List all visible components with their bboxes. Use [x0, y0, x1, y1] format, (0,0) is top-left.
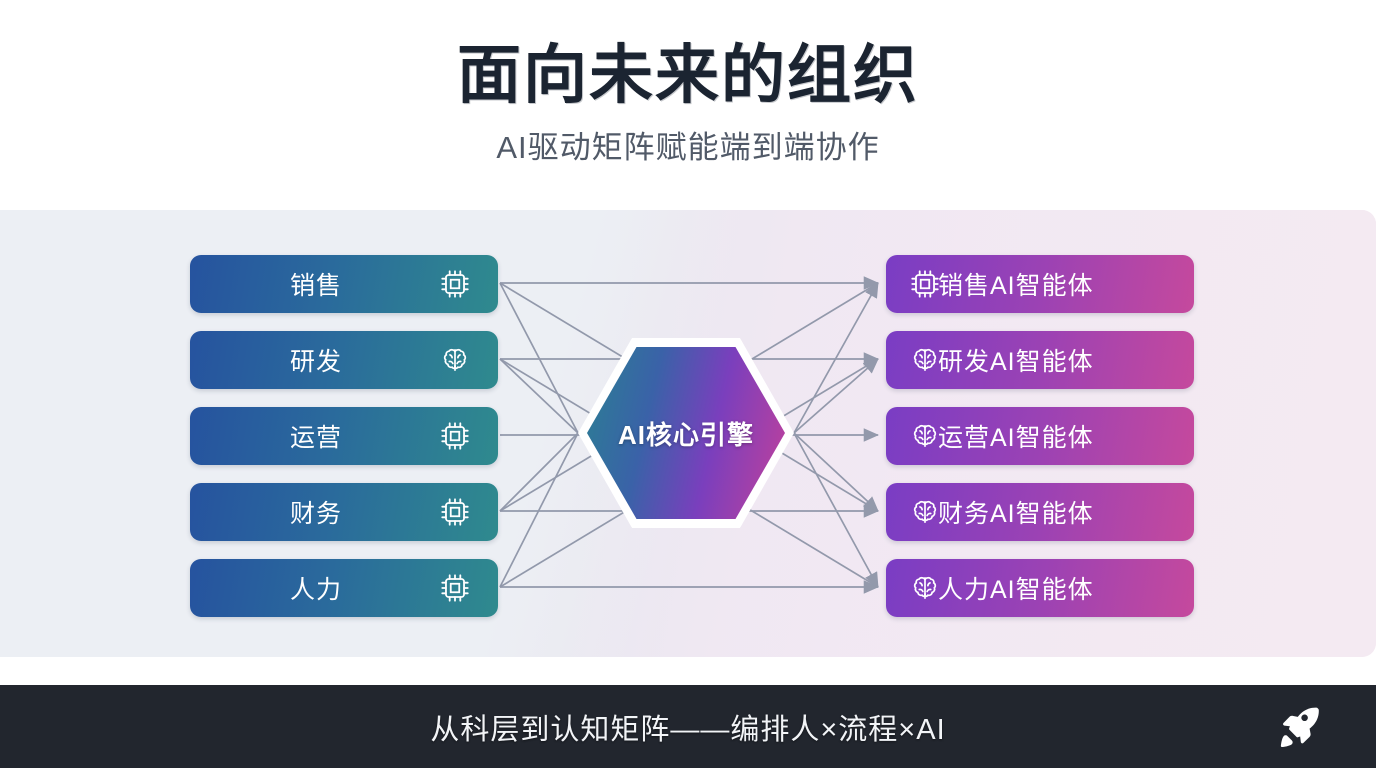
chip-icon	[438, 267, 472, 301]
connector-out-1	[794, 283, 878, 433]
brain-icon	[908, 571, 942, 605]
connector-in-1	[500, 283, 578, 433]
dept-node-label: 运营	[290, 418, 342, 454]
matrix-diagram: 销售 研发	[0, 210, 1376, 657]
agent-node-0[interactable]: 销售AI智能体	[886, 255, 1194, 313]
dept-node-3[interactable]: 财务	[190, 483, 498, 541]
connector-out-4	[794, 433, 878, 511]
brain-icon	[908, 343, 942, 377]
dept-node-1[interactable]: 研发	[190, 331, 498, 389]
ai-core-engine-node[interactable]: AI核心引擎	[578, 338, 794, 528]
dept-node-0[interactable]: 销售	[190, 255, 498, 313]
dept-node-label: 人力	[290, 570, 342, 606]
agent-node-label: 研发AI智能体	[938, 342, 1094, 378]
brain-icon	[908, 495, 942, 529]
chip-icon	[438, 495, 472, 529]
footer-tagline: 从科层到认知矩阵——编排人×流程×AI	[430, 706, 945, 748]
brain-icon	[438, 343, 472, 377]
slide-header: 面向未来的组织 AI驱动矩阵赋能端到端协作	[0, 0, 1376, 210]
agent-node-1[interactable]: 研发AI智能体	[886, 331, 1194, 389]
agent-node-label: 运营AI智能体	[938, 418, 1094, 454]
connector-out-2	[794, 359, 878, 433]
slide-root: 面向未来的组织 AI驱动矩阵赋能端到端协作	[0, 0, 1376, 768]
dept-node-2[interactable]: 运营	[190, 407, 498, 465]
rocket-icon	[1272, 701, 1324, 753]
agent-node-4[interactable]: 人力AI智能体	[886, 559, 1194, 617]
chip-icon	[908, 267, 942, 301]
agent-node-label: 财务AI智能体	[938, 494, 1094, 530]
connector-out-5	[794, 433, 878, 587]
page-subtitle: AI驱动矩阵赋能端到端协作	[496, 122, 879, 167]
connector-in-2	[500, 359, 578, 433]
diagram-panel: 销售 研发	[0, 210, 1376, 657]
ai-core-engine-label: AI核心引擎	[618, 415, 754, 452]
dept-node-label: 研发	[290, 342, 342, 378]
agent-node-label: 销售AI智能体	[938, 266, 1094, 302]
agent-node-label: 人力AI智能体	[938, 570, 1094, 606]
dept-node-label: 销售	[290, 266, 342, 302]
chip-icon	[438, 571, 472, 605]
agent-node-2[interactable]: 运营AI智能体	[886, 407, 1194, 465]
brain-icon	[908, 419, 942, 453]
agent-node-3[interactable]: 财务AI智能体	[886, 483, 1194, 541]
page-title: 面向未来的组织	[457, 40, 919, 112]
dept-node-4[interactable]: 人力	[190, 559, 498, 617]
chip-icon	[438, 419, 472, 453]
slide-footer: 从科层到认知矩阵——编排人×流程×AI	[0, 685, 1376, 768]
dept-node-label: 财务	[290, 494, 342, 530]
